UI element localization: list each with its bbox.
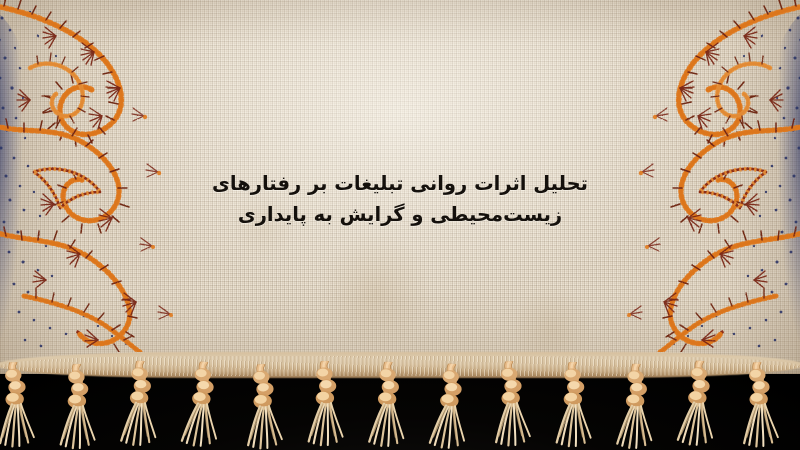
tassel-12 xyxy=(676,360,727,449)
tassel-2 xyxy=(57,364,105,450)
tassel-tuft xyxy=(121,403,156,446)
tassel-knots xyxy=(67,370,89,408)
tassel-tuft xyxy=(246,405,282,449)
tassel-tuft xyxy=(308,403,343,446)
tassel-tuft xyxy=(678,402,714,446)
tassel-knots xyxy=(4,368,27,407)
tassel-8 xyxy=(428,363,479,450)
tassel-9 xyxy=(490,360,541,449)
slide-canvas: تحلیل اثرات روانی تبلیغات بر رفتارهای زی… xyxy=(0,0,800,450)
tassel-tuft xyxy=(494,402,530,446)
tassel-13 xyxy=(738,361,789,450)
tassel-tuft xyxy=(617,406,652,449)
page-title-line-1: تحلیل اثرات روانی تبلیغات بر رفتارهای xyxy=(0,168,800,199)
tassel-tuft xyxy=(182,403,218,447)
tassel-knots xyxy=(378,368,400,406)
tassel-5 xyxy=(242,363,293,450)
tassel-tuft xyxy=(556,404,591,447)
tassel-knots xyxy=(192,368,215,407)
tassel-knots xyxy=(748,368,771,407)
tassel-knots xyxy=(315,367,337,405)
tassel-knots xyxy=(563,368,585,406)
page-title: تحلیل اثرات روانی تبلیغات بر رفتارهای زی… xyxy=(0,168,800,230)
page-title-line-2: زیست‌محیطی و گرایش به پایداری xyxy=(0,199,800,230)
tassel-tuft xyxy=(60,406,95,449)
tassel-tuft xyxy=(430,405,466,449)
tassel-4 xyxy=(180,361,231,450)
tassel-1 xyxy=(0,361,44,450)
tassel-tuft xyxy=(0,403,34,447)
tassel-3 xyxy=(119,361,167,448)
tassel-knots xyxy=(130,367,152,405)
tassel-tuft xyxy=(742,403,778,447)
tassel-7 xyxy=(367,362,415,449)
tassel-knots xyxy=(500,367,523,406)
tassel-knots xyxy=(626,370,648,408)
tassel-knots xyxy=(252,370,275,409)
tassel-6 xyxy=(305,361,353,448)
tassel-11 xyxy=(615,364,663,450)
tassel-knots xyxy=(688,367,711,406)
tassel-knots xyxy=(440,370,463,409)
tassel-10 xyxy=(553,362,601,449)
knotted-tassel-fringe xyxy=(0,362,800,450)
tassel-tuft xyxy=(369,404,404,447)
